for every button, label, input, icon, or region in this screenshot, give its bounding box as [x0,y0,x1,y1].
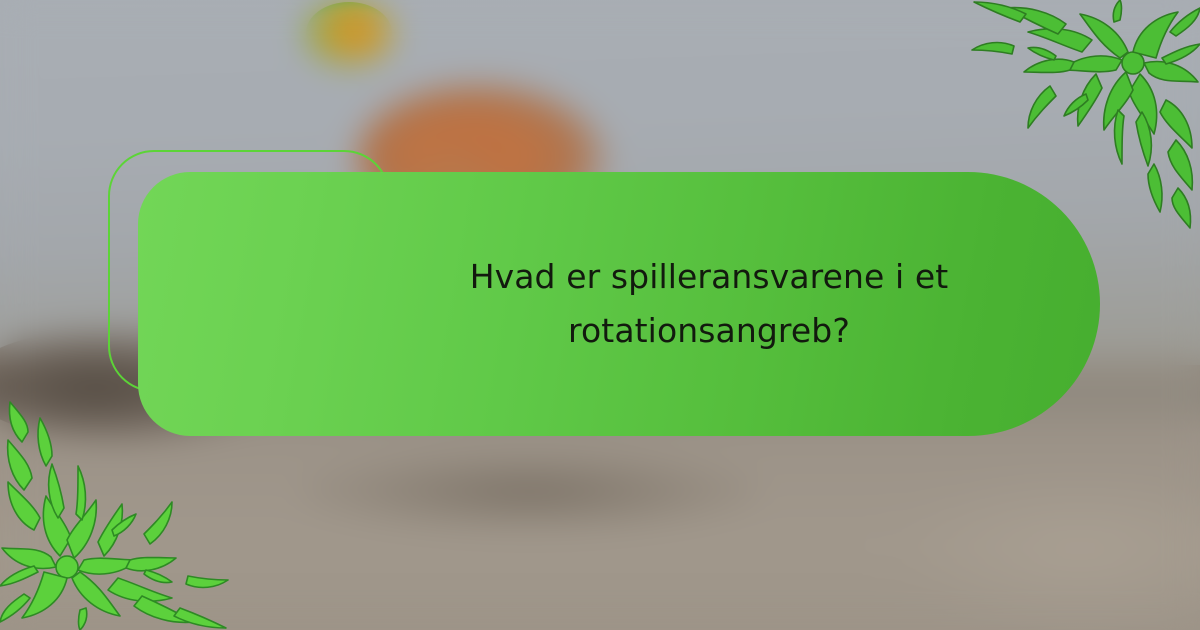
question-line-1: Hvad er spilleransvarene i et [470,257,949,296]
question-card: Hvad er spilleransvarene i et rotationsa… [138,172,1100,436]
question-line-2: rotationsangreb? [568,311,850,350]
quote-card-canvas: Hvad er spilleransvarene i et rotationsa… [0,0,1200,630]
question-text: Hvad er spilleransvarene i et rotationsa… [399,250,1019,358]
